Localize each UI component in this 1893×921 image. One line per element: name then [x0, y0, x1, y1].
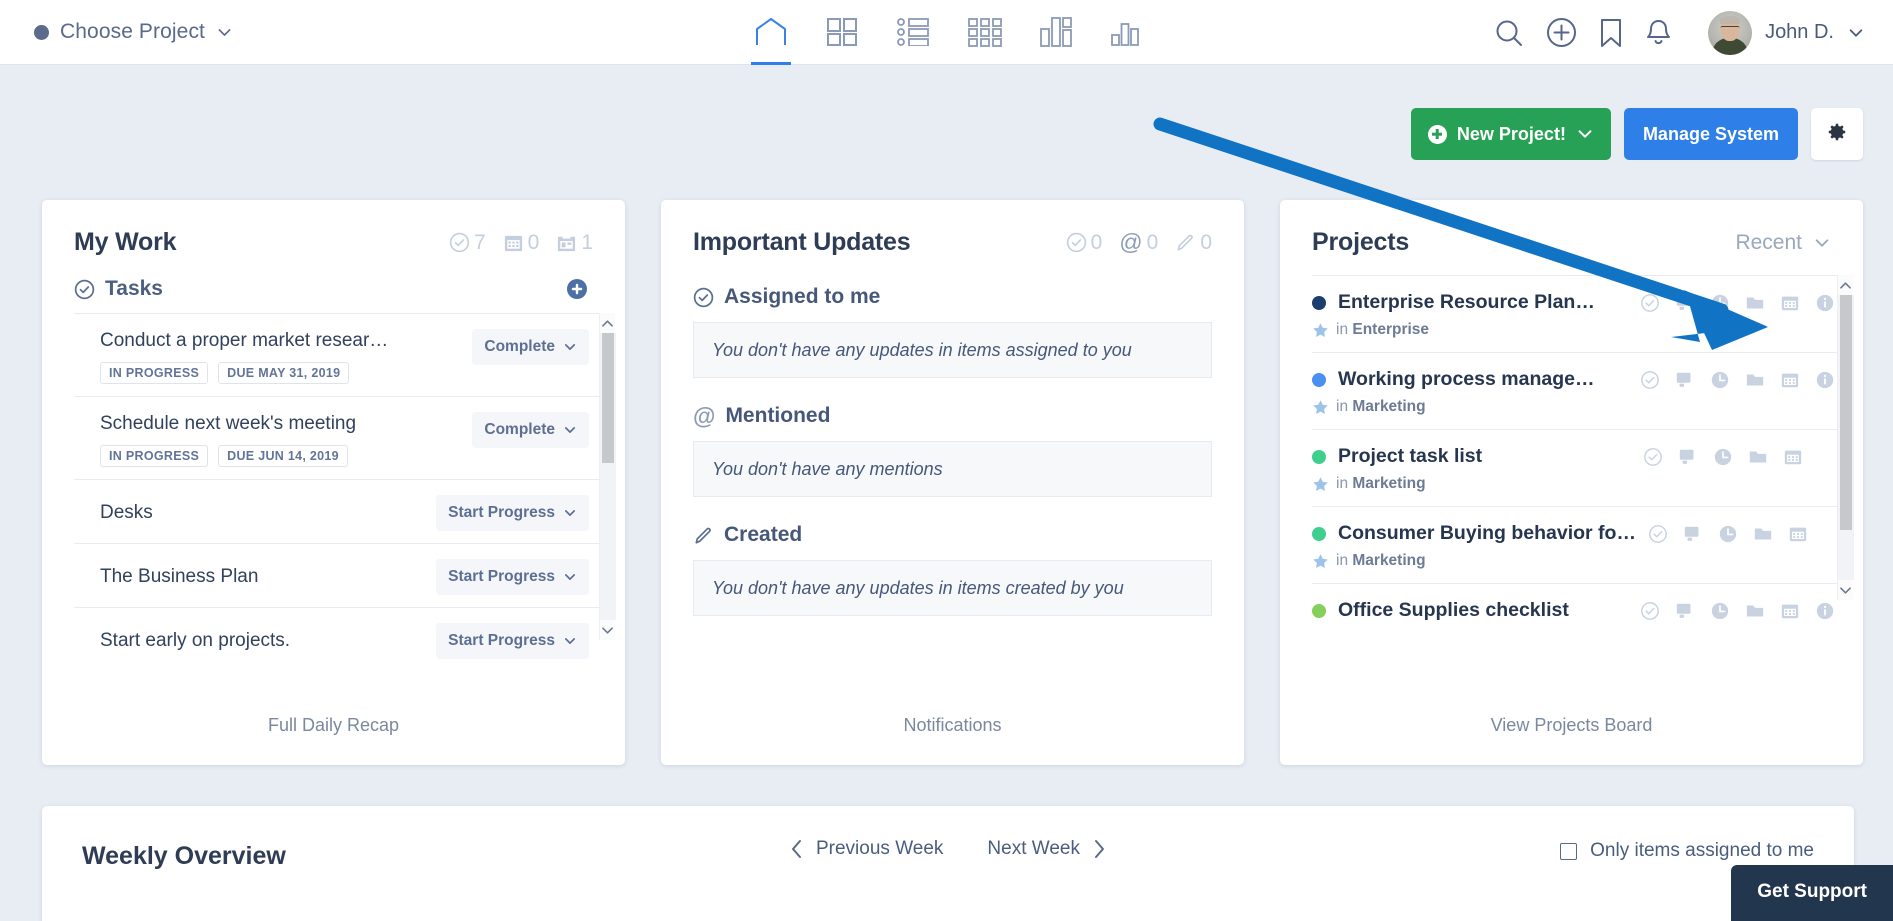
task-action-label: Start Progress — [448, 632, 555, 650]
tasks-section-header: Tasks — [42, 257, 625, 301]
page-title: Projects — [1312, 228, 1409, 257]
table-row[interactable]: The Business Plan Start Progress — [74, 543, 615, 607]
check-circle-icon[interactable] — [1640, 601, 1660, 621]
chevron-down-icon — [1847, 24, 1865, 42]
clock-icon[interactable] — [1710, 370, 1730, 390]
nav-item-home[interactable] — [751, 0, 791, 65]
full-daily-recap-link[interactable]: Full Daily Recap — [268, 715, 399, 736]
next-week-label: Next Week — [987, 838, 1080, 860]
stat-assigned: 0 — [1066, 231, 1103, 255]
my-work-header: My Work 7 0 1 — [42, 200, 625, 257]
list-item[interactable]: Enterprise Resource Plan… — [1312, 275, 1853, 352]
due-badge: DUE MAY 31, 2019 — [218, 362, 349, 384]
page-title: My Work — [74, 228, 176, 257]
search-icon[interactable] — [1494, 18, 1524, 48]
check-circle-icon — [74, 279, 95, 300]
comment-icon[interactable] — [1675, 601, 1695, 621]
milestone-icon — [556, 232, 577, 253]
project-color-dot — [34, 25, 49, 40]
only-mine-label: Only items assigned to me — [1590, 840, 1814, 862]
task-name: Desks — [100, 501, 153, 525]
table-row[interactable]: Conduct a proper market resear… IN PROGR… — [74, 313, 615, 396]
stat-tasks-value: 7 — [474, 231, 486, 255]
calendar-icon[interactable] — [1780, 370, 1800, 390]
task-action-button[interactable]: Start Progress — [436, 495, 589, 531]
app-root: Choose Project — [0, 0, 1893, 921]
task-action-label: Complete — [484, 421, 555, 439]
clock-icon[interactable] — [1710, 293, 1730, 313]
scroll-up-icon[interactable] — [1840, 275, 1851, 295]
view-projects-board-link[interactable]: View Projects Board — [1491, 715, 1653, 736]
page-title: Important Updates — [693, 228, 910, 257]
chevron-left-icon — [790, 839, 804, 859]
my-work-card: My Work 7 0 1 — [42, 200, 625, 765]
info-icon[interactable] — [1815, 601, 1835, 621]
list-item[interactable]: Office Supplies checklist — [1312, 583, 1853, 635]
scrollbar-track[interactable] — [600, 333, 616, 620]
check-circle-icon — [1066, 232, 1087, 253]
dashboard-cards: My Work 7 0 1 — [42, 200, 1863, 765]
scroll-up-icon[interactable] — [602, 313, 613, 333]
comment-icon[interactable] — [1675, 293, 1695, 313]
projects-sort-select[interactable]: Recent — [1735, 231, 1831, 255]
check-circle-icon — [693, 287, 714, 308]
new-project-button[interactable]: New Project! — [1411, 108, 1611, 160]
add-task-button[interactable] — [566, 278, 588, 300]
project-row-icons — [1640, 601, 1835, 621]
calendar-icon[interactable] — [1780, 293, 1800, 313]
projects-header: Projects Recent — [1280, 200, 1863, 257]
important-updates-stats: 0 @ 0 0 — [1066, 231, 1212, 255]
next-week-button[interactable]: Next Week — [987, 838, 1106, 860]
top-right-actions: John D. — [1494, 0, 1865, 65]
status-badge: IN PROGRESS — [100, 362, 208, 384]
project-picker-label: Choose Project — [60, 20, 205, 44]
projects-card: Projects Recent Enterprise Resource Plan… — [1280, 200, 1863, 765]
project-name: Consumer Buying behavior fo… — [1338, 522, 1636, 545]
bookmark-icon[interactable] — [1599, 18, 1623, 48]
project-folder: in Enterprise — [1336, 321, 1429, 339]
plus-circle-filled-icon — [566, 278, 588, 300]
chevron-down-icon — [563, 634, 577, 648]
list-item[interactable]: Working process manage… — [1312, 352, 1853, 429]
new-project-label: New Project! — [1457, 124, 1566, 145]
project-row-icons — [1640, 293, 1835, 313]
project-row-icons — [1640, 370, 1835, 390]
stat-assigned-value: 0 — [1091, 231, 1103, 255]
at-icon: @ — [693, 405, 715, 428]
avatar — [1708, 11, 1752, 55]
star-icon — [1312, 399, 1329, 416]
check-circle-icon[interactable] — [1640, 293, 1660, 313]
scrollbar[interactable] — [599, 313, 615, 640]
page-title: Weekly Overview — [82, 842, 286, 871]
project-color-dot — [1312, 527, 1326, 541]
folder-icon[interactable] — [1745, 370, 1765, 390]
stat-mentions: @ 0 — [1119, 231, 1158, 255]
bell-icon[interactable] — [1645, 18, 1672, 48]
check-circle-icon — [449, 232, 470, 253]
only-mine-checkbox[interactable]: Only items assigned to me — [1560, 840, 1814, 862]
calendar-icon[interactable] — [1780, 601, 1800, 621]
my-work-stats: 7 0 1 — [449, 231, 593, 255]
assigned-to-me-section-title: Assigned to me — [693, 285, 1212, 309]
task-action-button[interactable]: Start Progress — [436, 559, 589, 595]
nav-item-reports[interactable] — [1107, 0, 1143, 65]
task-action-button[interactable]: Complete — [472, 329, 589, 365]
clock-icon[interactable] — [1718, 524, 1738, 544]
tasks-section-title: Tasks — [105, 277, 163, 301]
check-circle-icon[interactable] — [1640, 370, 1660, 390]
nav-item-lists[interactable] — [893, 0, 933, 65]
clock-icon[interactable] — [1710, 601, 1730, 621]
folder-icon[interactable] — [1748, 447, 1768, 467]
gear-icon — [1826, 121, 1848, 148]
stat-milestones-value: 1 — [581, 231, 593, 255]
project-color-dot — [1312, 296, 1326, 310]
projects-scroll-area: Enterprise Resource Plan… — [1280, 275, 1863, 600]
project-name: Working process manage… — [1338, 368, 1594, 391]
project-row-icons — [1643, 447, 1803, 467]
project-folder: in Marketing — [1336, 475, 1426, 493]
projects-list: Enterprise Resource Plan… — [1280, 275, 1863, 635]
important-updates-body: Assigned to me You don't have any update… — [661, 257, 1244, 616]
notifications-link[interactable]: Notifications — [903, 715, 1001, 736]
pencil-icon — [1175, 232, 1196, 253]
at-icon: @ — [1119, 231, 1142, 254]
task-action-label: Start Progress — [448, 568, 555, 586]
project-picker[interactable]: Choose Project — [34, 20, 233, 44]
project-row-icons — [1648, 524, 1808, 544]
chevron-right-icon — [1092, 839, 1106, 859]
task-name: The Business Plan — [100, 565, 258, 589]
info-icon[interactable] — [1815, 370, 1835, 390]
check-circle-icon[interactable] — [1643, 447, 1663, 467]
project-name: Project task list — [1338, 445, 1482, 468]
chevron-down-icon — [1576, 125, 1594, 143]
status-badge: IN PROGRESS — [100, 445, 208, 467]
project-folder: in Marketing — [1336, 398, 1426, 416]
chevron-down-icon — [563, 570, 577, 584]
created-section-title: Created — [693, 523, 1212, 547]
chevron-down-icon — [563, 340, 577, 354]
chevron-down-icon — [563, 506, 577, 520]
scrollbar-track[interactable] — [1838, 295, 1854, 580]
star-icon — [1312, 476, 1329, 493]
important-updates-header: Important Updates 0 @ 0 0 — [661, 200, 1244, 257]
star-icon — [1312, 553, 1329, 570]
stat-created: 0 — [1175, 231, 1212, 255]
project-color-dot — [1312, 604, 1326, 618]
info-icon[interactable] — [1815, 293, 1835, 313]
scrollbar-thumb[interactable] — [1840, 295, 1852, 530]
scrollbar[interactable] — [1837, 275, 1853, 600]
stat-created-value: 0 — [1200, 231, 1212, 255]
user-menu[interactable]: John D. — [1708, 11, 1865, 55]
folder-icon[interactable] — [1745, 293, 1765, 313]
task-action-button[interactable]: Complete — [472, 412, 589, 448]
check-circle-icon[interactable] — [1648, 524, 1668, 544]
list-item[interactable]: Project task list in Marketing — [1312, 429, 1853, 506]
task-name: Schedule next week's meeting — [100, 412, 356, 436]
task-action-label: Complete — [484, 338, 555, 356]
list-item[interactable]: Consumer Buying behavior fo… i — [1312, 506, 1853, 583]
my-work-footer: Full Daily Recap — [42, 685, 625, 765]
stat-calendar: 0 — [503, 231, 540, 255]
table-row[interactable]: Start early on projects. Start Progress — [74, 607, 615, 671]
task-action-button[interactable]: Start Progress — [436, 623, 589, 659]
mentioned-empty-state: You don't have any mentions — [693, 441, 1212, 497]
calendar-icon — [503, 232, 524, 253]
chevron-down-icon — [216, 24, 233, 41]
task-name: Conduct a proper market resear… — [100, 329, 388, 353]
project-folder: in Marketing — [1336, 552, 1426, 570]
folder-icon[interactable] — [1745, 601, 1765, 621]
scroll-down-icon[interactable] — [602, 620, 613, 640]
chevron-down-icon — [563, 423, 577, 437]
project-name: Office Supplies checklist — [1338, 599, 1569, 622]
stat-tasks: 7 — [449, 231, 486, 255]
star-icon — [1312, 322, 1329, 339]
get-support-button[interactable]: Get Support — [1731, 865, 1893, 921]
projects-footer: View Projects Board — [1280, 685, 1863, 765]
plus-circle-icon — [1428, 125, 1447, 144]
calendar-icon[interactable] — [1788, 524, 1808, 544]
project-name: Enterprise Resource Plan… — [1338, 291, 1595, 314]
stat-mentions-value: 0 — [1147, 231, 1159, 255]
week-navigation: Previous Week Next Week — [790, 838, 1106, 860]
tasks-scroll-area: Conduct a proper market resear… IN PROGR… — [42, 313, 625, 640]
nav-item-matrix[interactable] — [965, 0, 1005, 65]
top-navigation-bar: Choose Project — [0, 0, 1893, 65]
assigned-to-me-empty-state: You don't have any updates in items assi… — [693, 322, 1212, 378]
plus-circle-icon[interactable] — [1546, 17, 1577, 48]
comment-icon[interactable] — [1678, 447, 1698, 467]
table-row[interactable]: Desks Start Progress — [74, 479, 615, 543]
scroll-down-icon[interactable] — [1840, 580, 1851, 600]
calendar-icon[interactable] — [1783, 447, 1803, 467]
clock-icon[interactable] — [1713, 447, 1733, 467]
folder-icon[interactable] — [1753, 524, 1773, 544]
created-empty-state: You don't have any updates in items crea… — [693, 560, 1212, 616]
nav-item-boards[interactable] — [823, 0, 861, 65]
pencil-icon — [693, 525, 714, 546]
table-row[interactable]: Schedule next week's meeting IN PROGRESS… — [74, 396, 615, 479]
user-name: John D. — [1765, 21, 1834, 44]
project-color-dot — [1312, 450, 1326, 464]
weekly-overview-card: Weekly Overview Previous Week Next Week … — [42, 806, 1854, 921]
comment-icon[interactable] — [1683, 524, 1703, 544]
previous-week-label: Previous Week — [816, 838, 943, 860]
mentioned-section-title: @ Mentioned — [693, 404, 1212, 428]
stat-calendar-value: 0 — [528, 231, 540, 255]
important-updates-card: Important Updates 0 @ 0 0 — [661, 200, 1244, 765]
nav-item-kanban[interactable] — [1037, 0, 1075, 65]
previous-week-button[interactable]: Previous Week — [790, 838, 943, 860]
page-action-bar: New Project! Manage System — [1411, 108, 1863, 160]
projects-sort-label: Recent — [1735, 231, 1802, 255]
settings-button[interactable] — [1811, 108, 1863, 160]
important-updates-footer: Notifications — [661, 685, 1244, 765]
task-list: Conduct a proper market resear… IN PROGR… — [42, 313, 625, 671]
chevron-down-icon — [1813, 234, 1831, 252]
checkbox-icon[interactable] — [1560, 843, 1577, 860]
project-color-dot — [1312, 373, 1326, 387]
due-badge: DUE JUN 14, 2019 — [218, 445, 348, 467]
main-nav — [751, 0, 1143, 65]
stat-milestones: 1 — [556, 231, 593, 255]
task-name: Start early on projects. — [100, 629, 290, 653]
task-action-label: Start Progress — [448, 504, 555, 522]
manage-system-button[interactable]: Manage System — [1624, 108, 1798, 160]
scrollbar-thumb[interactable] — [602, 333, 614, 463]
comment-icon[interactable] — [1675, 370, 1695, 390]
